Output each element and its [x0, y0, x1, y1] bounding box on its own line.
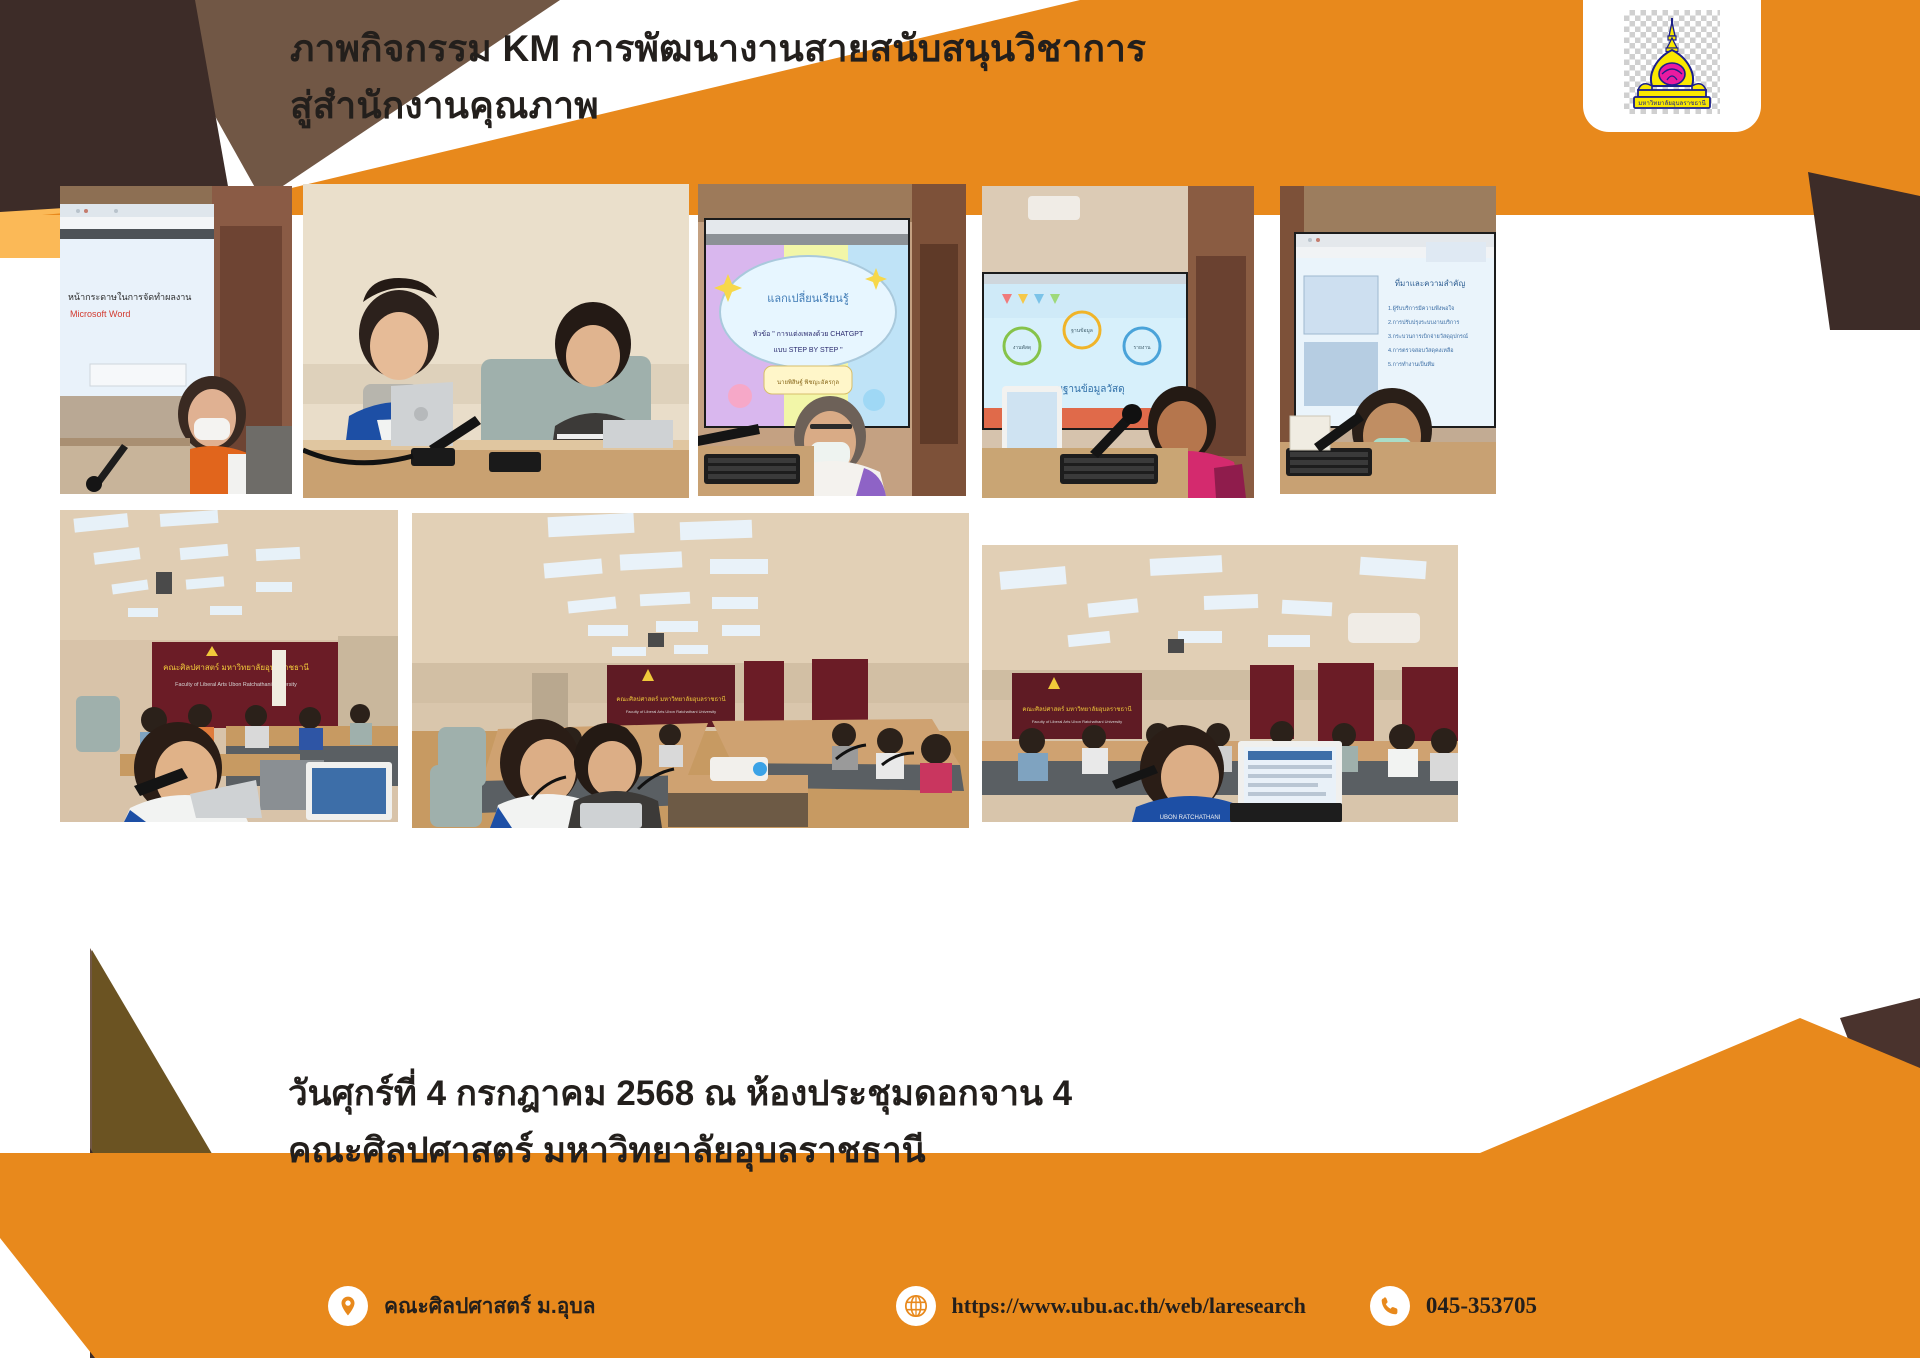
contact-address[interactable]: คณะศิลปศาสตร์ ม.อุบล — [328, 1286, 596, 1326]
gallery-photo-7-image: คณะศิลปศาสตร์ มหาวิทยาลัยอุบลราชธานี Fac… — [412, 513, 969, 828]
contact-phone-label: 045-353705 — [1426, 1293, 1537, 1319]
gallery-photo-8[interactable]: คณะศิลปศาสตร์ มหาวิทยาลัยอุบลราชธานี Fac… — [982, 545, 1458, 822]
gallery-photo-5-image: ที่มาและความสำคัญ 1.ผู้รับบริการมีความพึ… — [1280, 186, 1496, 494]
gallery-photo-3[interactable]: แลกเปลี่ยนเรียนรู้ หัวข้อ " การแต่งเพลงด… — [698, 184, 966, 496]
poster-canvas: ภาพกิจกรรม KM การพัฒนางานสายสนับสนุนวิชา… — [0, 0, 1920, 1358]
svg-text:ฐานข้อมูล: ฐานข้อมูล — [1071, 327, 1093, 334]
svg-text:1.ผู้รับบริการมีความพึงพอใจ: 1.ผู้รับบริการมีความพึงพอใจ — [1388, 305, 1454, 312]
university-logo-card: มหาวิทยาลัยอุบลราชธานี — [1583, 0, 1761, 132]
event-details: วันศุกร์ที่ 4 กรกฎาคม 2568 ณ ห้องประชุมด… — [288, 1066, 1072, 1179]
svg-text:หัวข้อ " การแต่งเพลงด้วย CHATG: หัวข้อ " การแต่งเพลงด้วย CHATGPT — [753, 330, 864, 338]
svg-text:คณะศิลปศาสตร์ มหาวิทยาลัยอุบลร: คณะศิลปศาสตร์ มหาวิทยาลัยอุบลราชธานี — [1022, 705, 1131, 713]
gallery-photo-8-image: คณะศิลปศาสตร์ มหาวิทยาลัยอุบลราชธานี Fac… — [982, 545, 1458, 822]
svg-text:5.การทำงานเป็นทีม: 5.การทำงานเป็นทีม — [1388, 360, 1435, 368]
svg-text:คณะศิลปศาสตร์ มหาวิทยาลัยอุบลร: คณะศิลปศาสตร์ มหาวิทยาลัยอุบลราชธานี — [163, 662, 309, 672]
gallery-photo-3-image: แลกเปลี่ยนเรียนรู้ หัวข้อ " การแต่งเพลงด… — [698, 184, 966, 496]
university-logo-caption: มหาวิทยาลัยอุบลราชธานี — [1638, 99, 1706, 107]
contact-website[interactable]: https://www.ubu.ac.th/web/laresearch — [896, 1286, 1306, 1326]
gallery-photo-1[interactable]: หน้ากระดาษในการจัดทำผลงาน Microsoft Word — [60, 186, 292, 494]
page-title-line-2: สู่สำนักงานคุณภาพ — [290, 77, 1490, 134]
contact-phone[interactable]: 045-353705 — [1370, 1286, 1537, 1326]
gallery-photo-4-image: งานพัสดุ ฐานข้อมูล รายงาน ระบบฐานข้อมูลว… — [982, 186, 1254, 498]
svg-text:แลกเปลี่ยนเรียนรู้: แลกเปลี่ยนเรียนรู้ — [767, 290, 849, 305]
svg-text:งานพัสดุ: งานพัสดุ — [1013, 345, 1031, 351]
gallery-photo-1-image: หน้ากระดาษในการจัดทำผลงาน Microsoft Word — [60, 186, 292, 494]
page-title-line-1: ภาพกิจกรรม KM การพัฒนางานสายสนับสนุนวิชา… — [290, 20, 1490, 77]
svg-text:UBON RATCHATHANI: UBON RATCHATHANI — [1160, 815, 1221, 821]
svg-text:4.การตรวจสอบวัสดุคงเหลือ: 4.การตรวจสอบวัสดุคงเหลือ — [1388, 347, 1454, 354]
gallery-photo-5[interactable]: ที่มาและความสำคัญ 1.ผู้รับบริการมีความพึ… — [1280, 186, 1496, 494]
location-pin-icon — [328, 1286, 368, 1326]
svg-text:นายพิสิษฐ์ พิชญะอัครกุล: นายพิสิษฐ์ พิชญะอัครกุล — [777, 378, 839, 386]
gallery-photo-2-image — [303, 184, 689, 498]
svg-text:Faculty of Liberal Arts Ubon: Faculty of Liberal Arts Ubon Ratchathani… — [626, 709, 716, 714]
ubu-stupa-logo-icon: มหาวิทยาลัยอุบลราชธานี — [1626, 14, 1718, 114]
svg-text:รายงาน: รายงาน — [1133, 345, 1151, 351]
gallery-photo-6[interactable]: คณะศิลปศาสตร์ มหาวิทยาลัยอุบลราชธานี Fac… — [60, 510, 398, 822]
phone-icon — [1370, 1286, 1410, 1326]
svg-text:Faculty of Liberal Arts Ubon: Faculty of Liberal Arts Ubon Ratchathani… — [1032, 719, 1122, 724]
svg-text:3.กระบวนการเบิกจ่ายวัสดุอุปกรณ: 3.กระบวนการเบิกจ่ายวัสดุอุปกรณ์ — [1388, 333, 1468, 340]
gallery-photo-2[interactable] — [303, 184, 689, 498]
contact-address-label: คณะศิลปศาสตร์ ม.อุบล — [384, 1290, 596, 1323]
contact-website-label: https://www.ubu.ac.th/web/laresearch — [952, 1293, 1306, 1319]
contact-bar: คณะศิลปศาสตร์ ม.อุบล https://www.ubu.ac.… — [328, 1280, 1537, 1332]
svg-text:2.การปรับปรุงระบบงานบริการ: 2.การปรับปรุงระบบงานบริการ — [1388, 319, 1459, 326]
event-organizer: คณะศิลปศาสตร์ มหาวิทยาลัยอุบลราชธานี — [288, 1123, 1072, 1180]
svg-text:หน้ากระดาษในการจัดทำผลงาน: หน้ากระดาษในการจัดทำผลงาน — [68, 292, 191, 302]
gallery-photo-7[interactable]: คณะศิลปศาสตร์ มหาวิทยาลัยอุบลราชธานี Fac… — [412, 513, 969, 828]
gallery-photo-4[interactable]: งานพัสดุ ฐานข้อมูล รายงาน ระบบฐานข้อมูลว… — [982, 186, 1254, 498]
page-title: ภาพกิจกรรม KM การพัฒนางานสายสนับสนุนวิชา… — [290, 20, 1490, 135]
svg-text:Microsoft Word: Microsoft Word — [70, 309, 130, 319]
svg-text:แบบ STEP BY STEP ": แบบ STEP BY STEP " — [773, 347, 843, 354]
gallery-photo-6-image: คณะศิลปศาสตร์ มหาวิทยาลัยอุบลราชธานี Fac… — [60, 510, 398, 822]
event-date-venue: วันศุกร์ที่ 4 กรกฎาคม 2568 ณ ห้องประชุมด… — [288, 1066, 1072, 1123]
university-logo-transparency-bg: มหาวิทยาลัยอุบลราชธานี — [1624, 10, 1720, 114]
svg-text:ที่มาและความสำคัญ: ที่มาและความสำคัญ — [1395, 277, 1466, 288]
svg-text:คณะศิลปศาสตร์ มหาวิทยาลัยอุบลร: คณะศิลปศาสตร์ มหาวิทยาลัยอุบลราชธานี — [616, 695, 725, 703]
globe-icon — [896, 1286, 936, 1326]
